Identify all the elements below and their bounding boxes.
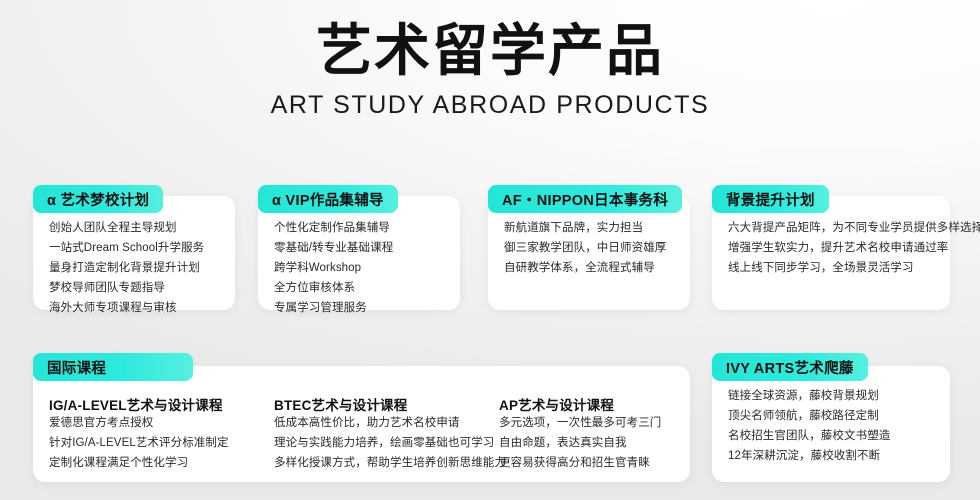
list-item: 量身打造定制化背景提升计划 <box>49 258 204 278</box>
list-item: 新航道旗下品牌，实力担当 <box>504 218 666 238</box>
card-badge-label: IVY ARTS艺术爬藤 <box>712 357 868 378</box>
column-body-btec: 低成本高性价比，助力艺术名校申请 理论与实践能力培养，绘画零基础也可学习 多样化… <box>274 413 506 473</box>
card-badge-alpha-dream-school: α 艺术梦校计划 <box>33 185 163 213</box>
column-heading-btec: BTEC艺术与设计课程 <box>274 394 407 414</box>
list-item: 自由命题，表达真实自我 <box>499 433 661 453</box>
list-item: 低成本高性价比，助力艺术名校申请 <box>274 413 506 433</box>
list-item: 梦校导师团队专题指导 <box>49 278 204 298</box>
poster-root: 艺术留学产品 ART STUDY ABROAD PRODUCTS α 艺术梦校计… <box>0 0 980 500</box>
card-badge-label: α 艺术梦校计划 <box>33 189 163 210</box>
list-item: 增强学生软实力，提升艺术名校申请通过率 <box>728 238 980 258</box>
panel-badge-label: 国际课程 <box>33 357 120 378</box>
list-item: 名校招生官团队，藤校文书塑造 <box>728 426 890 446</box>
list-item: 理论与实践能力培养，绘画零基础也可学习 <box>274 433 506 453</box>
list-item: 链接全球资源，藤校背景规划 <box>728 386 890 406</box>
list-item: 自研教学体系，全流程式辅导 <box>504 258 666 278</box>
list-item: 全方位审核体系 <box>274 278 393 298</box>
list-item: 御三家教学团队，中日师资雄厚 <box>504 238 666 258</box>
card-badge-background-boost: 背景提升计划 <box>712 185 829 213</box>
list-item: 多样化授课方式，帮助学生培养创新思维能力 <box>274 453 506 473</box>
list-item: 针对IG/A-LEVEL艺术评分标准制定 <box>49 433 229 453</box>
card-badge-af-nippon: AF・NIPPON日本事务科 <box>488 185 682 213</box>
list-item: 12年深耕沉淀，藤校收割不断 <box>728 446 890 466</box>
page-header: 艺术留学产品 ART STUDY ABROAD PRODUCTS <box>0 18 980 120</box>
card-badge-alpha-vip-portfolio: α VIP作品集辅导 <box>258 185 398 213</box>
list-item: 爱德思官方考点授权 <box>49 413 229 433</box>
list-item: 创始人团队全程主导规划 <box>49 218 204 238</box>
list-item: 零基础/转专业基础课程 <box>274 238 393 258</box>
card-body-af-nippon: 新航道旗下品牌，实力担当 御三家教学团队，中日师资雄厚 自研教学体系，全流程式辅… <box>504 218 666 278</box>
column-heading-ap: AP艺术与设计课程 <box>499 394 614 414</box>
list-item: 六大背提产品矩阵，为不同专业学员提供多样选择 <box>728 218 980 238</box>
panel-badge-international-courses: 国际课程 <box>33 353 193 381</box>
list-item: 专属学习管理服务 <box>274 298 393 318</box>
card-body-ivy-arts: 链接全球资源，藤校背景规划 顶尖名师领航，藤校路径定制 名校招生官团队，藤校文书… <box>728 386 890 466</box>
card-badge-label: α VIP作品集辅导 <box>258 189 398 210</box>
card-body-alpha-vip-portfolio: 个性化定制作品集辅导 零基础/转专业基础课程 跨学科Workshop 全方位审核… <box>274 218 393 318</box>
list-item: 一站式Dream School升学服务 <box>49 238 204 258</box>
page-title-en: ART STUDY ABROAD PRODUCTS <box>0 92 980 120</box>
list-item: 海外大师专项课程与审核 <box>49 298 204 318</box>
list-item: 线上线下同步学习，全场景灵活学习 <box>728 258 980 278</box>
list-item: 跨学科Workshop <box>274 258 393 278</box>
column-heading-ig-alevel: IG/A-LEVEL艺术与设计课程 <box>49 394 223 414</box>
card-badge-label: 背景提升计划 <box>712 189 829 210</box>
list-item: 更容易获得高分和招生官青睐 <box>499 453 661 473</box>
card-badge-label: AF・NIPPON日本事务科 <box>488 189 682 210</box>
card-body-alpha-dream-school: 创始人团队全程主导规划 一站式Dream School升学服务 量身打造定制化背… <box>49 218 204 318</box>
card-badge-ivy-arts: IVY ARTS艺术爬藤 <box>712 353 868 381</box>
list-item: 个性化定制作品集辅导 <box>274 218 393 238</box>
list-item: 顶尖名师领航，藤校路径定制 <box>728 406 890 426</box>
column-body-ap: 多元选项，一次性最多可考三门 自由命题，表达真实自我 更容易获得高分和招生官青睐 <box>499 413 661 473</box>
list-item: 定制化课程满足个性化学习 <box>49 453 229 473</box>
card-body-background-boost: 六大背提产品矩阵，为不同专业学员提供多样选择 增强学生软实力，提升艺术名校申请通… <box>728 218 980 278</box>
list-item: 多元选项，一次性最多可考三门 <box>499 413 661 433</box>
column-body-ig-alevel: 爱德思官方考点授权 针对IG/A-LEVEL艺术评分标准制定 定制化课程满足个性… <box>49 413 229 473</box>
page-title-cn: 艺术留学产品 <box>0 18 980 84</box>
